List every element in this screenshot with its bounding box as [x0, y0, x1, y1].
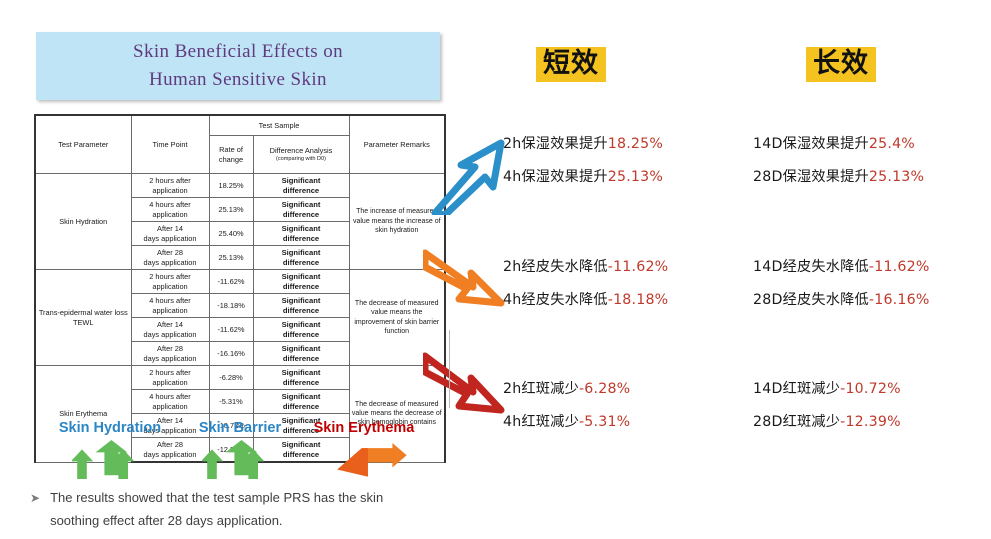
- time-point-line-2: application: [134, 378, 207, 387]
- cell-time-point: After 28days application: [131, 246, 209, 270]
- analysis-line-1: Significant: [256, 272, 347, 281]
- slide-title-banner: Skin Beneficial Effects on Human Sensiti…: [36, 32, 440, 100]
- stat-label: 4h保湿效果提升: [503, 169, 608, 185]
- time-point-line-2: application: [134, 282, 207, 291]
- stat-label: 2h保湿效果提升: [503, 136, 608, 152]
- time-point-line-2: application: [134, 210, 207, 219]
- stat-value: -18.18%: [608, 292, 669, 308]
- analysis-line-1: Significant: [256, 248, 347, 257]
- cell-time-point: After 14days application: [131, 318, 209, 342]
- stat-line-long-0-1: 28D保湿效果提升25.13%: [753, 166, 924, 186]
- analysis-line-2: difference: [256, 330, 347, 339]
- orange-down-right-arrow-icon: [423, 249, 505, 311]
- stat-line-short-2-1: 4h红斑减少-5.31%: [503, 411, 630, 431]
- analysis-line-2: difference: [256, 282, 347, 291]
- analysis-line-2: difference: [256, 234, 347, 243]
- cell-difference-analysis: Significantdifference: [253, 270, 349, 294]
- stat-value: -6.28%: [579, 381, 630, 397]
- stat-line-short-1-0: 2h经皮失水降低-11.62%: [503, 256, 668, 276]
- cell-test-parameter: Trans-epidermal water loss TEWL: [35, 270, 131, 366]
- stat-label: 28D红斑减少: [753, 414, 840, 430]
- time-point-line-1: 4 hours after: [134, 392, 207, 401]
- difference-analysis-label: Difference Analysis: [270, 146, 333, 155]
- col-header-time-point: Time Point: [131, 115, 209, 174]
- stat-line-short-2-0: 2h红斑减少-6.28%: [503, 378, 630, 398]
- cell-time-point: After 14days application: [131, 222, 209, 246]
- stat-label: 28D保湿效果提升: [753, 169, 869, 185]
- legend-label-skin-hydration: Skin Hydration: [44, 420, 176, 436]
- cell-time-point: 4 hours afterapplication: [131, 198, 209, 222]
- stat-line-short-0-1: 4h保湿效果提升25.13%: [503, 166, 663, 186]
- table-head: Test Parameter Time Point Test Sample Pa…: [35, 115, 445, 174]
- legend-item-skin-barrier: Skin Barrier: [186, 420, 294, 480]
- cell-rate-of-change: -5.31%: [209, 390, 253, 414]
- bullet-marker-icon: ➤: [26, 487, 40, 533]
- stat-label: 28D经皮失水降低: [753, 292, 869, 308]
- cell-difference-analysis: Significantdifference: [253, 174, 349, 198]
- col-header-rate-of-change: Rate of change: [209, 136, 253, 174]
- cell-rate-of-change: 25.13%: [209, 246, 253, 270]
- analysis-line-1: Significant: [256, 392, 347, 401]
- time-point-line-2: days application: [134, 354, 207, 363]
- cell-difference-analysis: Significantdifference: [253, 222, 349, 246]
- cell-difference-analysis: Significantdifference: [253, 366, 349, 390]
- table-row: Skin Hydration2 hours afterapplication18…: [35, 174, 445, 198]
- analysis-line-1: Significant: [256, 320, 347, 329]
- analysis-line-2: difference: [256, 210, 347, 219]
- stat-value: -5.31%: [579, 414, 630, 430]
- col-header-test-parameter: Test Parameter: [35, 115, 131, 174]
- stat-label: 4h红斑减少: [503, 414, 579, 430]
- stat-value: -10.72%: [840, 381, 901, 397]
- cell-time-point: 4 hours afterapplication: [131, 294, 209, 318]
- stat-line-long-2-0: 14D红斑减少-10.72%: [753, 378, 901, 398]
- time-point-line-1: 4 hours after: [134, 296, 207, 305]
- column-header-long-term: 长效: [806, 47, 876, 82]
- legend-item-skin-erythema: Skin Erythema: [298, 420, 430, 480]
- stat-value: -11.62%: [869, 259, 930, 275]
- stat-line-long-2-1: 28D红斑减少-12.39%: [753, 411, 901, 431]
- cell-rate-of-change: -16.16%: [209, 342, 253, 366]
- cell-time-point: 2 hours afterapplication: [131, 366, 209, 390]
- analysis-line-2: difference: [256, 186, 347, 195]
- legend-label-skin-erythema: Skin Erythema: [298, 420, 430, 436]
- page-title-line-1: Skin Beneficial Effects on: [133, 38, 343, 66]
- stat-value: 25.13%: [608, 169, 663, 185]
- red-down-right-arrow-icon: [423, 352, 505, 420]
- stat-label: 2h红斑减少: [503, 381, 579, 397]
- analysis-line-1: Significant: [256, 224, 347, 233]
- analysis-line-1: Significant: [256, 344, 347, 353]
- stat-label: 14D经皮失水降低: [753, 259, 869, 275]
- stat-line-short-0-0: 2h保湿效果提升18.25%: [503, 133, 663, 153]
- time-point-line-2: days application: [134, 234, 207, 243]
- conclusion-bullet: ➤ The results showed that the test sampl…: [26, 487, 486, 533]
- stat-value: 25.4%: [869, 136, 915, 152]
- analysis-line-1: Significant: [256, 176, 347, 185]
- legend-label-skin-barrier: Skin Barrier: [186, 420, 294, 436]
- time-point-line-2: application: [134, 306, 207, 315]
- column-header-short-term: 短效: [536, 47, 606, 82]
- cell-rate-of-change: -11.62%: [209, 318, 253, 342]
- analysis-line-2: difference: [256, 402, 347, 411]
- analysis-line-1: Significant: [256, 368, 347, 377]
- table-body: Skin Hydration2 hours afterapplication18…: [35, 174, 445, 463]
- stat-line-long-1-0: 14D经皮失水降低-11.62%: [753, 256, 930, 276]
- cell-difference-analysis: Significantdifference: [253, 198, 349, 222]
- stat-line-long-0-0: 14D保湿效果提升25.4%: [753, 133, 915, 153]
- cell-difference-analysis: Significantdifference: [253, 342, 349, 366]
- cell-test-parameter: Skin Hydration: [35, 174, 131, 270]
- table-header-row-1: Test Parameter Time Point Test Sample Pa…: [35, 115, 445, 136]
- stat-label: 4h经皮失水降低: [503, 292, 608, 308]
- stat-value: -16.16%: [869, 292, 930, 308]
- analysis-line-1: Significant: [256, 296, 347, 305]
- stat-value: 25.13%: [869, 169, 924, 185]
- decorative-divider: [449, 330, 450, 408]
- time-point-line-2: days application: [134, 330, 207, 339]
- time-point-line-2: application: [134, 402, 207, 411]
- time-point-line-2: application: [134, 186, 207, 195]
- analysis-line-1: Significant: [256, 200, 347, 209]
- legend-item-skin-hydration: Skin Hydration: [44, 420, 176, 480]
- stat-value: -12.39%: [840, 414, 901, 430]
- cell-time-point: 2 hours afterapplication: [131, 270, 209, 294]
- conclusion-line-1: The results showed that the test sample …: [50, 487, 383, 510]
- cell-rate-of-change: 18.25%: [209, 174, 253, 198]
- stat-value: -11.62%: [608, 259, 669, 275]
- time-point-line-1: 2 hours after: [134, 176, 207, 185]
- triple-up-arrow-icon: [44, 440, 176, 480]
- time-point-line-1: 4 hours after: [134, 200, 207, 209]
- cell-time-point: 4 hours afterapplication: [131, 390, 209, 414]
- stat-label: 2h经皮失水降低: [503, 259, 608, 275]
- time-point-line-1: 2 hours after: [134, 368, 207, 377]
- time-point-line-1: After 28: [134, 248, 207, 257]
- analysis-line-2: difference: [256, 354, 347, 363]
- analysis-line-2: difference: [256, 306, 347, 315]
- cell-time-point: 2 hours afterapplication: [131, 174, 209, 198]
- blue-up-right-arrow-icon: [431, 139, 507, 215]
- cell-difference-analysis: Significantdifference: [253, 390, 349, 414]
- cell-rate-of-change: -6.28%: [209, 366, 253, 390]
- stat-label: 14D红斑减少: [753, 381, 840, 397]
- difference-analysis-note: (comparing with D0): [256, 156, 347, 163]
- results-table: Test Parameter Time Point Test Sample Pa…: [34, 114, 446, 463]
- cell-difference-analysis: Significantdifference: [253, 318, 349, 342]
- table-row: Trans-epidermal water loss TEWL2 hours a…: [35, 270, 445, 294]
- bent-right-arrow-icon: [298, 440, 430, 480]
- time-point-line-1: After 28: [134, 344, 207, 353]
- conclusion-line-2: soothing effect after 28 days applicatio…: [50, 510, 383, 533]
- cell-rate-of-change: -11.62%: [209, 270, 253, 294]
- cell-time-point: After 28days application: [131, 342, 209, 366]
- col-header-test-sample: Test Sample: [209, 115, 349, 136]
- cell-rate-of-change: 25.40%: [209, 222, 253, 246]
- page-title-line-2: Human Sensitive Skin: [149, 66, 327, 94]
- cell-rate-of-change: 25.13%: [209, 198, 253, 222]
- triple-up-arrow-icon: [186, 440, 294, 480]
- time-point-line-1: After 14: [134, 320, 207, 329]
- conclusion-text: The results showed that the test sample …: [50, 487, 383, 533]
- cell-difference-analysis: Significantdifference: [253, 246, 349, 270]
- cell-rate-of-change: -18.18%: [209, 294, 253, 318]
- table-row: Skin Erythema2 hours afterapplication-6.…: [35, 366, 445, 390]
- stat-value: 18.25%: [608, 136, 663, 152]
- time-point-line-1: After 14: [134, 224, 207, 233]
- analysis-line-2: difference: [256, 378, 347, 387]
- stat-line-long-1-1: 28D经皮失水降低-16.16%: [753, 289, 930, 309]
- analysis-line-2: difference: [256, 258, 347, 267]
- stat-label: 14D保湿效果提升: [753, 136, 869, 152]
- col-header-difference-analysis: Difference Analysis (comparing with D0): [253, 136, 349, 174]
- stat-line-short-1-1: 4h经皮失水降低-18.18%: [503, 289, 668, 309]
- time-point-line-2: days application: [134, 258, 207, 267]
- time-point-line-1: 2 hours after: [134, 272, 207, 281]
- cell-difference-analysis: Significantdifference: [253, 294, 349, 318]
